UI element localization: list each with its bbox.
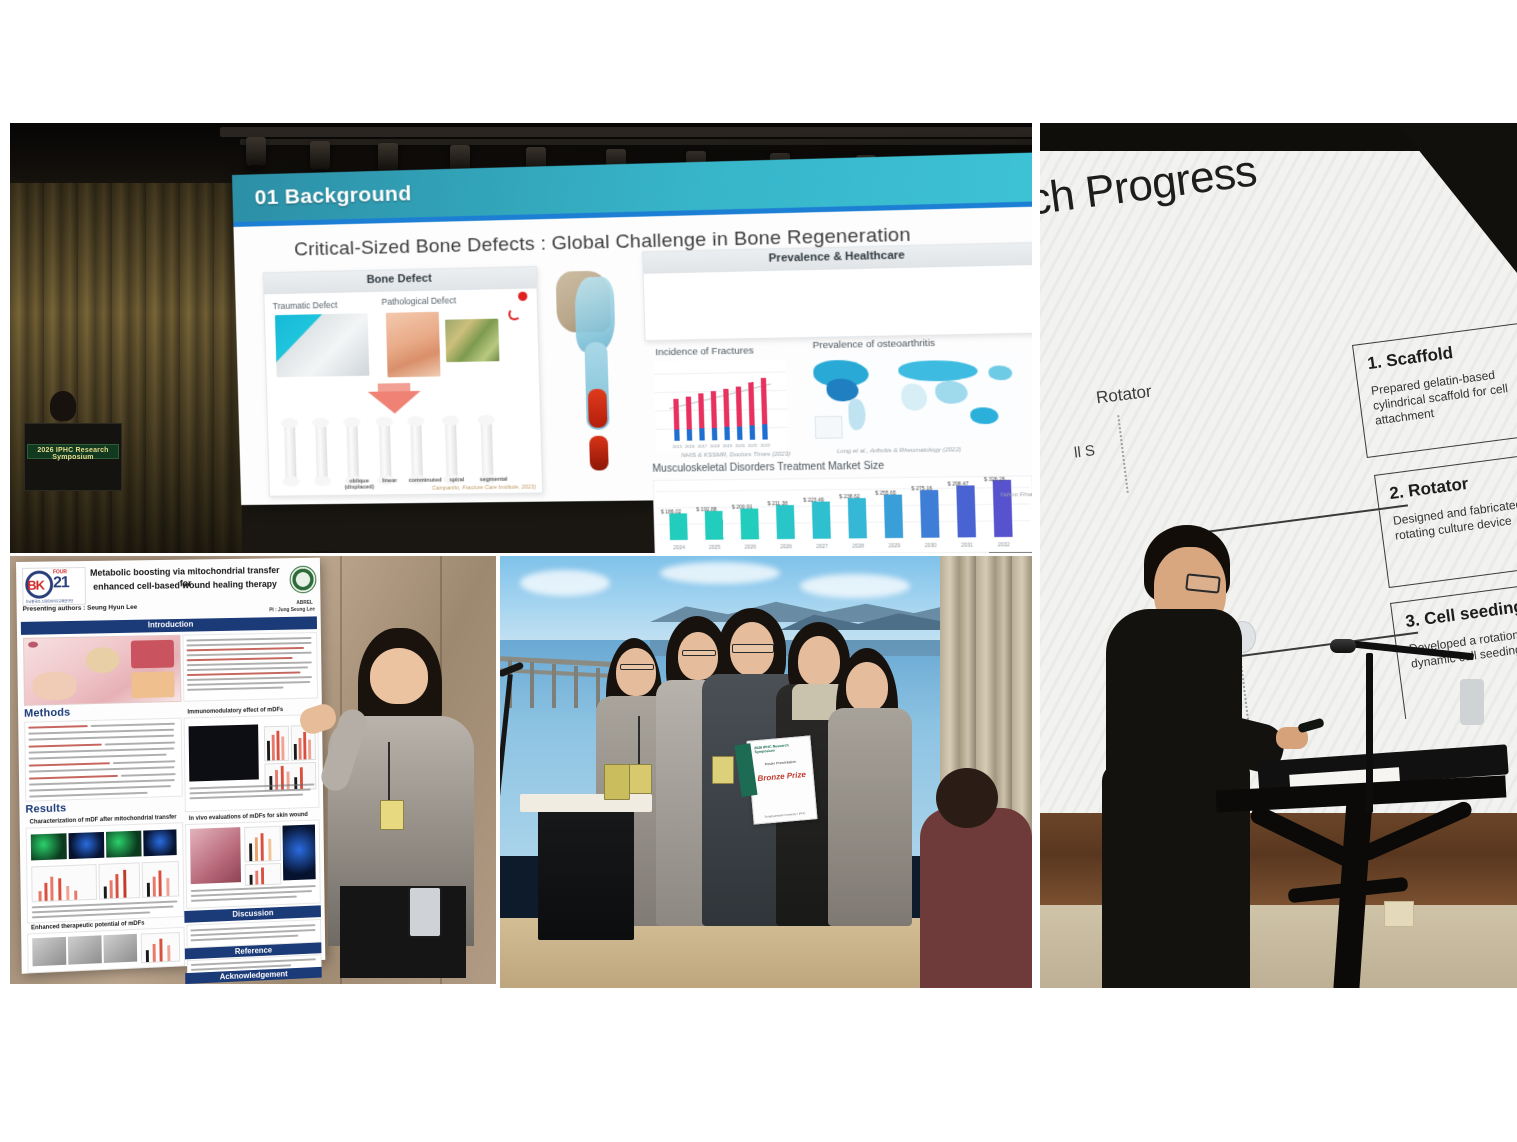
slide-box-body: Prepared gelatin-based cylindrical scaff…: [1370, 363, 1517, 429]
poster-pi-name: PI : Jung Seung Lee: [269, 607, 315, 614]
bar-2028: [848, 498, 867, 538]
stage-curtain: [10, 183, 242, 553]
foreground-person-head: [936, 768, 998, 828]
panel-poster-presentation: BK FOUR 21 두뇌한국21 스마트바이오교육연구단 Metabolic …: [10, 556, 496, 984]
bar-x-label: 2031: [961, 543, 973, 549]
fracture-type-label: oblique (displaced): [342, 478, 377, 490]
chart-title-market-size: Musculoskeletal Disorders Treatment Mark…: [652, 461, 884, 475]
bk21-bk-text: BK: [27, 578, 44, 593]
illustration-bone-histology: [445, 319, 499, 363]
mic-windscreen: [1460, 679, 1484, 725]
slide-body: Critical-Sized Bone Defects : Global Cha…: [233, 206, 1032, 505]
intro-text-column: [182, 632, 318, 702]
podium-top-surface: [520, 794, 652, 812]
methods-text-column: [24, 718, 183, 802]
bar-2029: [884, 495, 903, 539]
figure-results-characterization: [26, 822, 185, 923]
bar-2026: [740, 508, 759, 539]
poster-title-line2: enhanced cell-based wound healing therap…: [88, 578, 282, 593]
bone-illustration: [346, 420, 359, 483]
fracture-type-label: segmental: [472, 477, 515, 484]
presenter-phone: [408, 886, 442, 938]
bone-illustration: [410, 419, 423, 482]
stage-light-icon: [310, 141, 330, 171]
bar-x-label: 2024: [673, 545, 685, 551]
card-bone-defect: Bone Defect Traumatic Defect Pathologica…: [263, 266, 544, 497]
bar-value-label: $ 200.91: [732, 504, 753, 510]
bar-2027: [812, 502, 831, 539]
photo-leg-cast: [275, 313, 369, 377]
map-osteoarthritis-prevalence: [809, 353, 1021, 445]
stage-podium: [538, 800, 634, 940]
figure-intro-schematic: [23, 635, 181, 706]
fracture-type-label: linear: [374, 478, 405, 484]
stage-light-icon: [246, 137, 266, 167]
slide-box-rotator: 2. Rotator Designed and fabricated the r…: [1374, 451, 1517, 588]
bar-value-label: $ 255.65: [875, 490, 896, 496]
bar-2031: [956, 485, 976, 537]
poster-section-label: Introduction: [21, 617, 317, 632]
bar-x-label: 2027: [816, 544, 828, 550]
bar-value-label: $ 186.02: [661, 509, 681, 515]
foreground-person-silhouette: [920, 808, 1032, 988]
presenter-face-front: [370, 648, 428, 704]
figure-therapeutic-potential: [27, 927, 185, 974]
bar-value-label: $ 192.88: [696, 507, 717, 513]
chart-title-incidence: Incidence of Fractures: [655, 345, 754, 358]
fracture-type-label: comminuted: [404, 477, 447, 484]
bone-illustration: [315, 421, 328, 483]
bar-2026b: [776, 505, 795, 539]
bar-value-label: $ 238.62: [839, 494, 860, 500]
poster-presenting-authors: Presenting authors : Seung Hyun Lee: [23, 604, 138, 613]
fracture-type-label: spiral: [443, 477, 470, 483]
card-caption-text: Bone Defect: [264, 270, 536, 288]
bone-illustration: [481, 418, 494, 481]
figure-invivo-wound: [185, 819, 321, 909]
certificate-footer: Sungkyunkwan University / IPHC: [754, 810, 816, 819]
slide-box-title: 1. Scaffold: [1366, 343, 1454, 374]
slide-box-title: 2. Rotator: [1388, 474, 1469, 504]
bone-illustration: [445, 419, 458, 482]
slide-box-scaffold: 1. Scaffold Prepared gelatin-based cylin…: [1352, 321, 1517, 458]
card-caption-bar: Bone Defect: [264, 267, 537, 294]
presenter-name-badge: [380, 800, 404, 830]
award-certificate: 2026 IPHC Research Symposium Poster Pres…: [746, 735, 817, 824]
poster-subsection-immuno: Immunomodulatory effect of mDFs: [187, 707, 283, 715]
citation-fracture-types: Camparitio, Fracture Care Institute, 202…: [432, 484, 536, 491]
audience-head: [255, 551, 387, 553]
bar-value-label: $ 211.38: [767, 501, 787, 507]
certificate-header: 2026 IPHC Research Symposium: [754, 741, 810, 754]
bone-illustration: [379, 420, 392, 483]
bar-x-label: 2032: [998, 542, 1010, 548]
bk21-logo: BK FOUR 21 두뇌한국21 스마트바이오교육연구단: [22, 567, 86, 606]
citation-osteoarthritis: Long et al., Arthritis & Rheumatology (2…: [837, 447, 961, 455]
photo-collage: 01 Background Critical-Sized Bone Defect…: [0, 0, 1517, 1142]
card-caption-text: Prevalence & Healthcare: [643, 246, 1032, 267]
research-poster: BK FOUR 21 두뇌한국21 스마트바이오교육연구단 Metabolic …: [16, 558, 325, 974]
bone-illustration: [284, 421, 297, 483]
bar-x-label: 2030: [925, 543, 937, 549]
poster-section-label: Discussion: [184, 906, 321, 921]
illustration-pathological-foot: [386, 312, 441, 378]
floor-box: [1384, 901, 1414, 927]
image-bone-marrow-graphic: [539, 266, 645, 492]
poster-section-results: Results: [25, 802, 66, 815]
podium-banner: 2026 IPHC Research Symposium: [27, 444, 119, 459]
red-dot-marker-icon: [518, 292, 528, 301]
bar-value-label: $ 326.26: [984, 477, 1005, 483]
lighting-truss: [220, 127, 1032, 137]
speaker-glasses: [1185, 573, 1221, 593]
university-seal-icon: [289, 566, 316, 594]
poster-section-methods: Methods: [24, 707, 70, 720]
bk21-21-text: 21: [53, 574, 69, 592]
speaker-head-silhouette: [50, 391, 76, 421]
citation-market-size: Yahoo Finance (2024): [1000, 492, 1032, 499]
red-crescent-marker-icon: [508, 308, 521, 320]
bar-x-label: 2029: [888, 543, 900, 549]
map-legend: [815, 416, 843, 439]
bar-value-label: $ 298.47: [948, 481, 969, 487]
bar-2030: [920, 490, 940, 538]
projection-screen: 01 Background Critical-Sized Bone Defect…: [232, 152, 1032, 505]
figure-immunomodulatory: [184, 714, 320, 812]
citation-incidence: NHIS & KSSMR, Doctors Times (2023): [681, 452, 790, 460]
bar-x-label: 2025: [709, 545, 721, 551]
certificate-prize-text: Bronze Prize: [750, 769, 813, 783]
bar-2025: [705, 511, 724, 540]
bk21-korean-text: 두뇌한국21 스마트바이오교육연구단: [25, 598, 73, 604]
slide-section-title: 01 Background: [254, 182, 412, 210]
panel-speaker-lectern: ch Progress Rotator ll S 1. Scaffold Pre…: [1040, 123, 1517, 988]
bar-2032: [993, 480, 1013, 537]
panel-award-group-photo: 2026 IPHC Research Symposium Poster Pres…: [500, 556, 1032, 988]
chart-incidence-of-fractures: 20152016 20172018 20192020 20212022: [653, 359, 788, 451]
stage-podium: 2026 IPHC Research Symposium: [24, 423, 122, 491]
chart-title-osteoarthritis: Prevalence of osteoarthritis: [812, 338, 935, 352]
bar-2024: [669, 513, 688, 540]
podium-banner-text: 2026 IPHC Research Symposium: [28, 447, 118, 461]
stage-light-icon: [378, 143, 398, 173]
bar-value-label: $ 223.49: [803, 497, 824, 503]
microphone-head-icon: [1330, 639, 1356, 653]
microphone-cable: [1366, 653, 1373, 813]
card-prevalence-healthcare: Prevalence & Healthcare: [642, 242, 1032, 341]
certificate-category: Poster Presentation: [749, 758, 811, 767]
panel-auditorium-presentation: 01 Background Critical-Sized Bone Defect…: [10, 123, 1032, 553]
lighting-truss-secondary: [240, 139, 1032, 145]
presenter-skirt: [340, 886, 466, 978]
label-pathological-defect: Pathological Defect: [381, 295, 456, 307]
bar-value-label: $ 275.16: [911, 486, 932, 492]
bar-x-label: 2026: [744, 544, 756, 550]
chart-market-size: $ 186.02 2024 $ 192.88 2025 $ 200.91 202…: [653, 475, 1032, 553]
label-traumatic-defect: Traumatic Defect: [273, 300, 338, 311]
podium-sign: [604, 764, 630, 800]
down-arrow-icon: [368, 391, 421, 414]
poster-lab-name: ABREL: [296, 600, 313, 606]
slide-box-title: 3. Cell seeding: [1404, 597, 1517, 632]
bar-x-label: 2026: [780, 544, 792, 550]
bar-x-label: 2028: [852, 543, 864, 549]
